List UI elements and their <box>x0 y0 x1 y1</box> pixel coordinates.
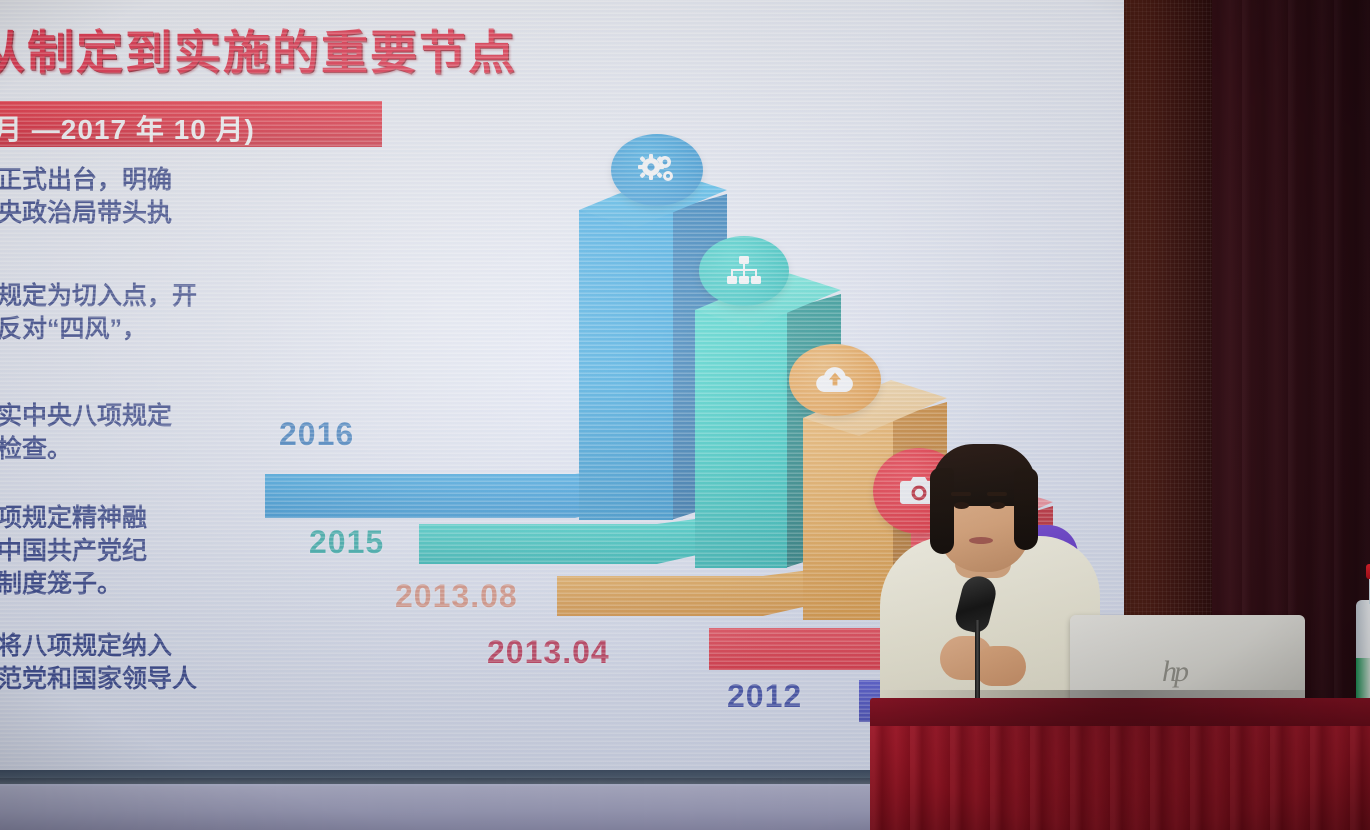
slide-title: 从制定到实施的重要节点 <box>0 14 517 83</box>
slide-paragraph-1: 定正式出台，明确 中央政治局带头执 <box>0 164 172 230</box>
chart-label-2015: 2015 <box>309 524 384 561</box>
paragraph-line: 。 <box>0 346 197 379</box>
slide-paragraph-3: 落实中央八项规定 足检查。 <box>0 400 172 466</box>
ribbon-2013-08 <box>557 568 825 616</box>
paragraph-line: 紧制度笼子。 <box>0 568 147 601</box>
presenter-hand-right <box>976 646 1026 686</box>
badge-hierarchy <box>699 236 789 306</box>
water-bottle-cap <box>1366 564 1370 579</box>
presenter-eyebrow-right <box>987 492 1007 496</box>
gears-icon <box>638 153 676 187</box>
hp-logo-icon: hp <box>1162 655 1186 689</box>
presenter-mouth <box>969 537 993 544</box>
paragraph-line: 会将八项规定纳入 <box>0 630 197 663</box>
paragraph-line: 规范党和国家领导人 <box>0 663 197 696</box>
chart-label-2013-04: 2013.04 <box>487 634 610 671</box>
table-skirt <box>870 726 1370 830</box>
chart-label-2013-08: 2013.08 <box>395 578 518 615</box>
paragraph-line: 八项规定精神融 <box>0 502 147 535</box>
slide-paragraph-5: 会将八项规定纳入 规范党和国家领导人 <box>0 630 197 696</box>
presenter-eye-right <box>990 502 1005 509</box>
chart-label-2016: 2016 <box>279 416 354 453</box>
cloud-upload-icon <box>815 365 855 395</box>
presenter-eyebrow-left <box>951 492 971 496</box>
paragraph-line: 《中国共产党纪 <box>0 535 147 568</box>
slide-date-banner-label: 月 —2017 年 10 月) <box>0 108 255 148</box>
paragraph-line: 项规定为切入点，开 <box>0 280 197 313</box>
ribbon-2015 <box>419 516 719 564</box>
presenter-eye-left <box>954 502 969 509</box>
paragraph-line: 足检查。 <box>0 433 172 466</box>
presentation-photo-scene: 从制定到实施的重要节点 月 —2017 年 10 月) 定正式出台，明确 中央政… <box>0 0 1370 830</box>
badge-gears <box>611 134 703 206</box>
slide-paragraph-2: 项规定为切入点，开 焦反对“四风”， 。 <box>0 280 197 379</box>
paragraph-line: 焦反对“四风”， <box>0 313 197 346</box>
chart-label-2012: 2012 <box>727 678 802 715</box>
paragraph-line: 定正式出台，明确 <box>0 164 172 197</box>
presenter-hair-left <box>930 468 954 554</box>
presenter-table <box>870 698 1370 728</box>
presenter-hair-right <box>1014 468 1038 550</box>
paragraph-line: 中央政治局带头执 <box>0 197 172 230</box>
badge-cloud-upload <box>789 344 881 416</box>
presenter-area: hp <box>880 440 1370 830</box>
hierarchy-icon <box>726 256 762 286</box>
paragraph-line: 落实中央八项规定 <box>0 400 172 433</box>
slide-paragraph-4: 八项规定精神融 《中国共产党纪 紧制度笼子。 <box>0 502 147 601</box>
